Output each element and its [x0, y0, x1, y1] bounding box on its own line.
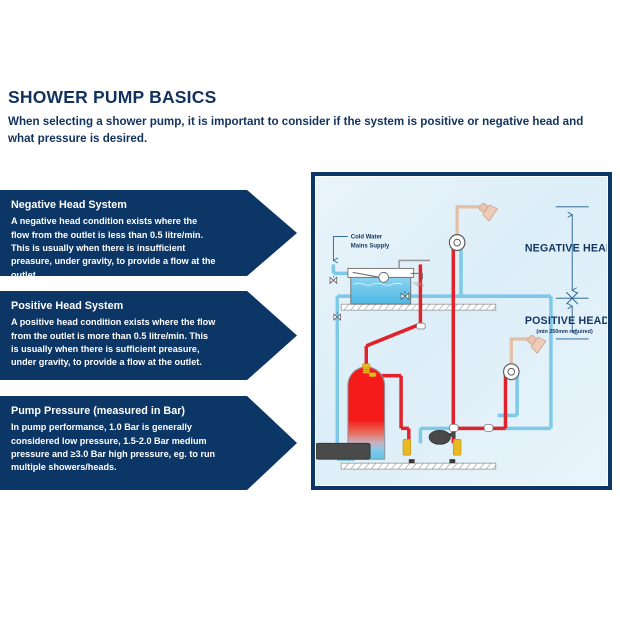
banner-body: A positive head condition exists where t… — [11, 316, 216, 369]
cold-water-mains-label: Cold Water Mains Supply — [333, 235, 390, 261]
cold-water-label-line1: Cold Water — [351, 235, 383, 241]
floor-joists — [341, 463, 496, 469]
banner-title: Positive Head System — [11, 300, 237, 313]
banner-pump-pressure[interactable]: Pump Pressure (measured in Bar) In pump … — [0, 396, 297, 490]
page-subtitle: When selecting a shower pump, it is impo… — [8, 114, 608, 147]
lower-shower — [504, 332, 546, 380]
banner-body: In pump performance, 1.0 Bar is generall… — [11, 421, 216, 474]
page-title: SHOWER PUMP BASICS — [8, 88, 608, 107]
banner-negative-head[interactable]: Negative Head System A negative head con… — [0, 190, 297, 276]
positive-head-note: (min 250mm required) — [536, 329, 593, 335]
banner-title: Negative Head System — [11, 199, 237, 212]
ceiling-joists — [341, 304, 496, 310]
upper-shower — [449, 200, 497, 251]
banner-body: A negative head condition exists where t… — [11, 215, 216, 281]
banner-title: Pump Pressure (measured in Bar) — [11, 405, 237, 418]
cold-water-arrow-icon — [333, 237, 348, 261]
negative-head-label: NEGATIVE HEAD — [525, 242, 607, 254]
heading-block: SHOWER PUMP BASICS When selecting a show… — [8, 88, 608, 147]
diagram-inner: Cold Water Mains Supply NEGA — [315, 176, 608, 486]
positive-head-label: POSITIVE HEAD — [525, 315, 607, 327]
banner-positive-head[interactable]: Positive Head System A positive head con… — [0, 291, 297, 380]
cold-water-label-line2: Mains Supply — [351, 243, 390, 249]
diagram-panel: Cold Water Mains Supply NEGA — [311, 172, 612, 490]
plumbing-schematic: Cold Water Mains Supply NEGA — [316, 177, 607, 485]
